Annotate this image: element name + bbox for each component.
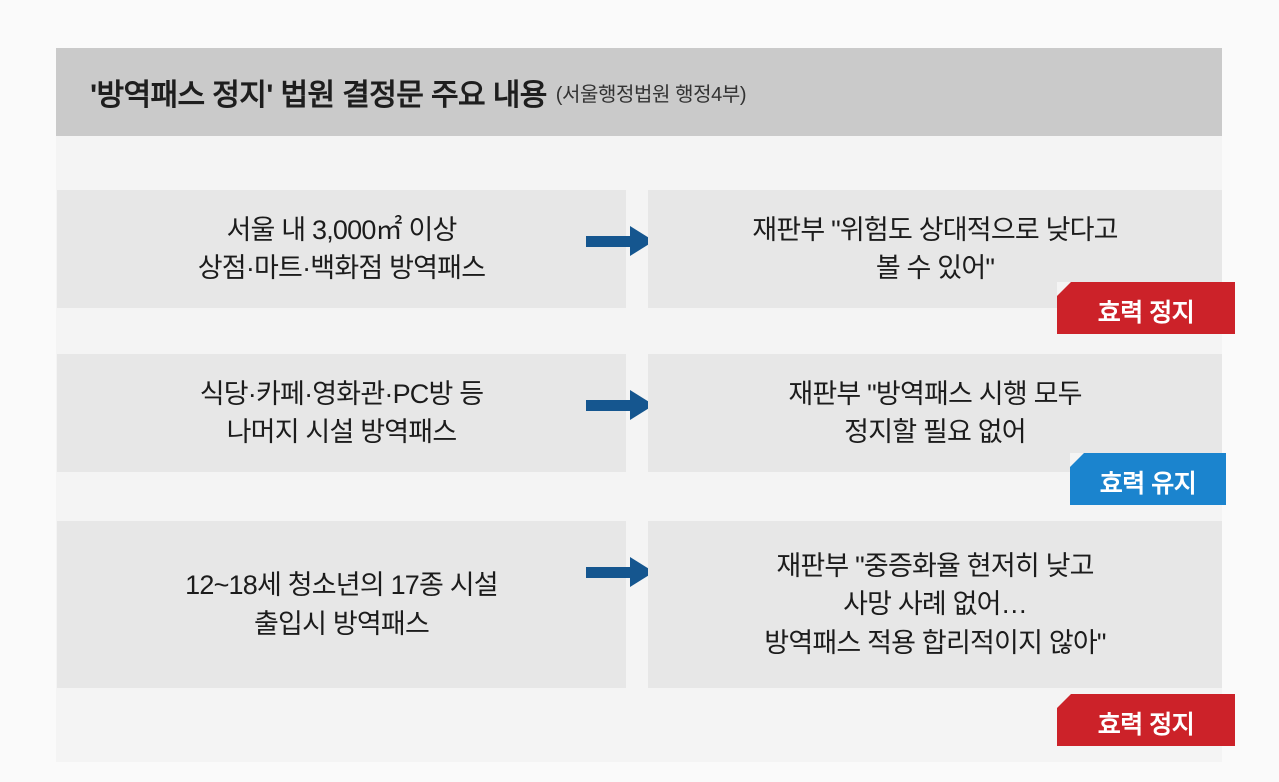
arrow-right-icon	[586, 226, 654, 256]
row-1-subject-line-1: 서울 내 3,000㎡ 이상	[226, 211, 456, 249]
row-2-ruling-line-1: 재판부 "방역패스 시행 모두	[788, 375, 1081, 413]
arrow-shaft	[586, 236, 632, 247]
row-1-subject-panel: 서울 내 3,000㎡ 이상 상점·마트·백화점 방역패스	[57, 190, 626, 308]
arrow-right-icon	[586, 390, 654, 420]
row-2-subject-line-1: 식당·카페·영화관·PC방 등	[200, 375, 484, 413]
row-3-ruling-line-1: 재판부 "중증화율 현저히 낮고	[776, 547, 1093, 585]
row-3-subject-panel: 12~18세 청소년의 17종 시설 출입시 방역패스	[57, 521, 626, 688]
row-2-ruling-line-2: 정지할 필요 없어	[844, 413, 1026, 451]
row-3-status-badge: 효력 정지	[1057, 694, 1235, 746]
arrow-shaft	[586, 400, 632, 411]
row-3-subject-line-2: 출입시 방역패스	[254, 605, 429, 643]
row-1-ruling-line-2: 볼 수 있어"	[876, 249, 994, 287]
row-2-status-badge-label: 효력 유지	[1100, 464, 1196, 500]
page-title: '방역패스 정지' 법원 결정문 주요 내용	[90, 70, 547, 114]
header-bar: '방역패스 정지' 법원 결정문 주요 내용 (서울행정법원 행정4부)	[56, 48, 1222, 136]
row-1-status-badge-label: 효력 정지	[1098, 293, 1194, 329]
row-1-ruling-line-1: 재판부 "위험도 상대적으로 낮다고	[752, 211, 1117, 249]
arrow-shaft	[586, 567, 632, 578]
row-3-subject-line-1: 12~18세 청소년의 17종 시설	[185, 566, 498, 604]
row-2-subject-panel: 식당·카페·영화관·PC방 등 나머지 시설 방역패스	[57, 354, 626, 472]
row-2-status-badge: 효력 유지	[1070, 453, 1226, 505]
arrow-right-icon	[586, 557, 654, 587]
row-1-subject-line-2: 상점·마트·백화점 방역패스	[198, 249, 486, 287]
row-3-ruling-line-2: 사망 사례 없어…	[843, 585, 1027, 623]
row-3-ruling-panel: 재판부 "중증화율 현저히 낮고 사망 사례 없어… 방역패스 적용 합리적이지…	[648, 521, 1222, 688]
row-2-subject-line-2: 나머지 시설 방역패스	[227, 413, 457, 451]
row-3-status-badge-label: 효력 정지	[1098, 705, 1194, 741]
row-1-status-badge: 효력 정지	[1057, 282, 1235, 334]
row-3-ruling-line-3: 방역패스 적용 합리적이지 않아"	[764, 624, 1105, 662]
page-subtitle: (서울행정법원 행정4부)	[556, 78, 746, 107]
